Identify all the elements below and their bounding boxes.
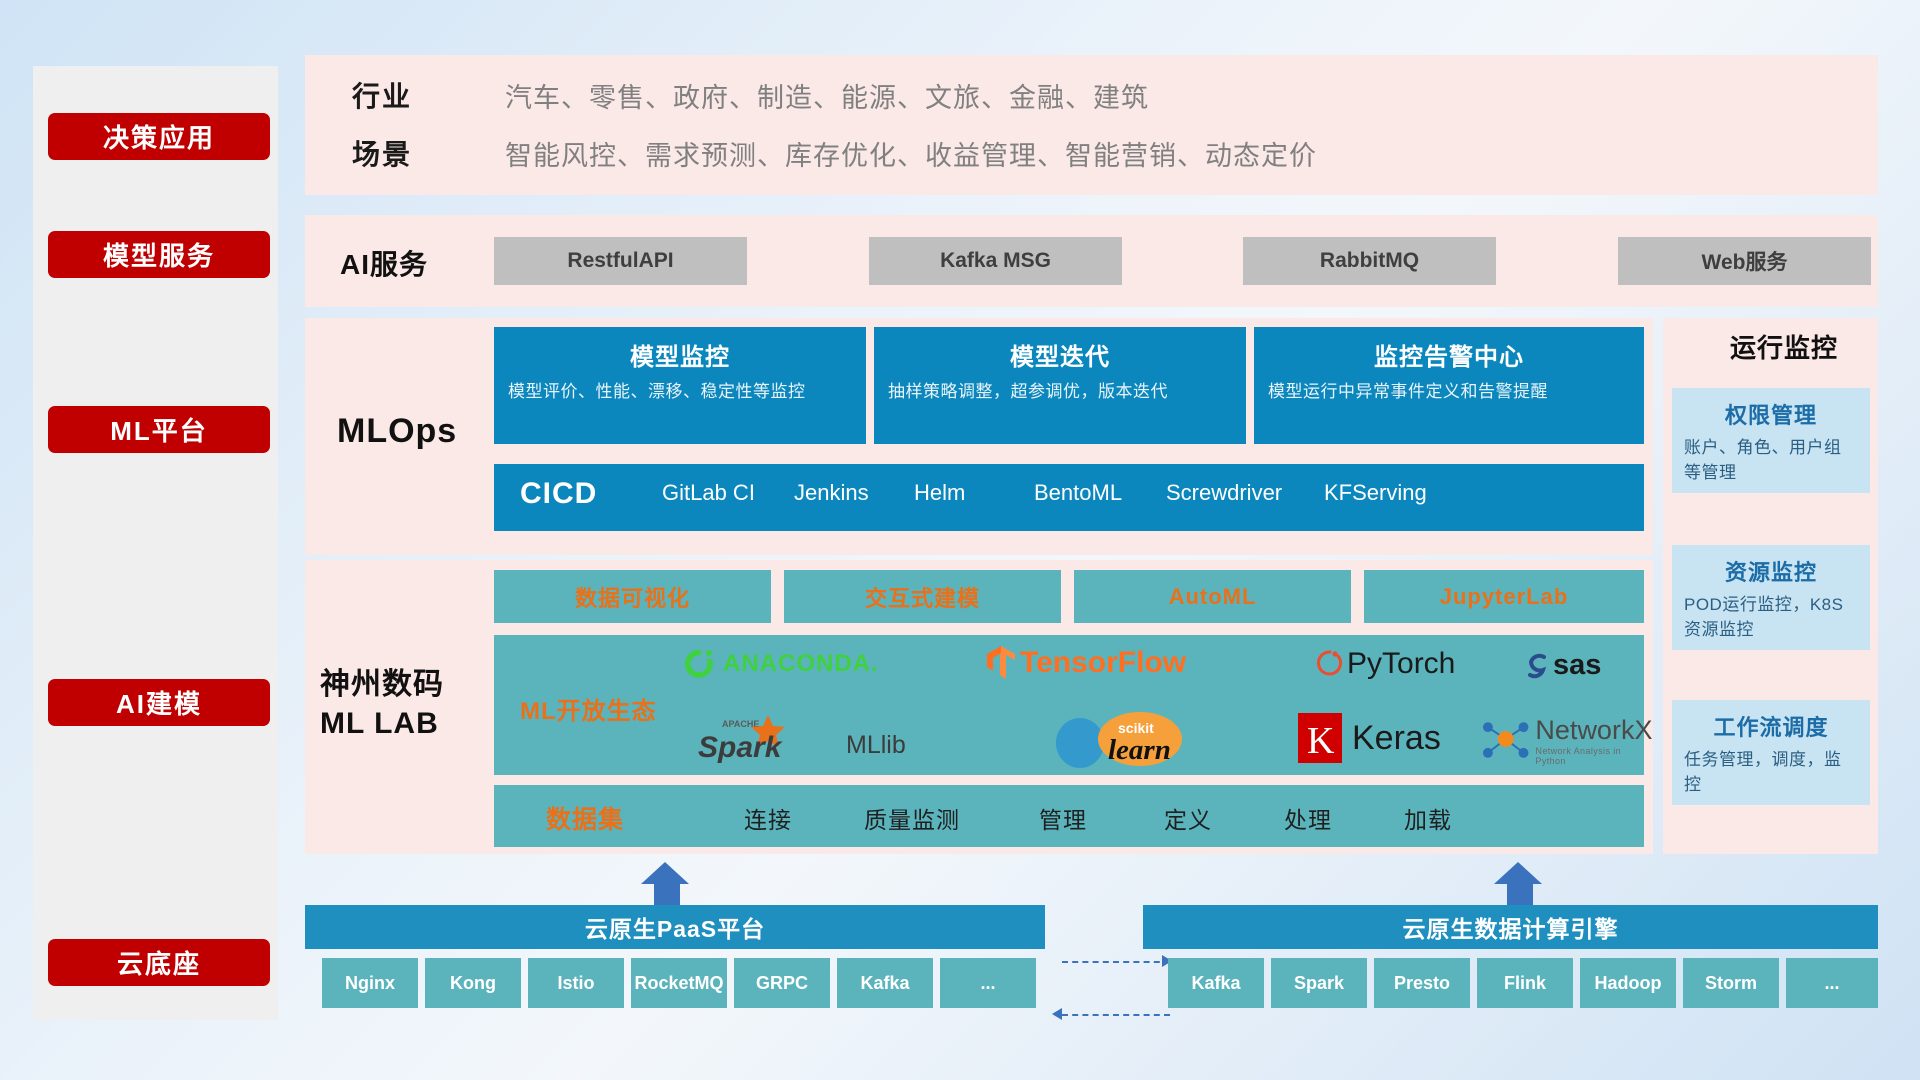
dataset-title: 数据集 bbox=[546, 800, 624, 836]
monitor-card-workflow[interactable]: 工作流调度 任务管理，调度，监控 bbox=[1672, 700, 1870, 805]
ml-lab-label: 神州数码 ML LAB bbox=[320, 665, 485, 743]
cloud-tag-flink[interactable]: Flink bbox=[1477, 958, 1573, 1008]
rail-badge-decision[interactable]: 决策应用 bbox=[48, 113, 270, 160]
ai-service-chip-kafka-msg[interactable]: Kafka MSG bbox=[869, 237, 1122, 285]
dashed-connector-bottom bbox=[1062, 1014, 1170, 1016]
tensorflow-logo: TensorFlow bbox=[986, 645, 1186, 681]
pytorch-logo: PyTorch bbox=[1316, 647, 1455, 681]
ml-lab-label-line2: ML LAB bbox=[320, 704, 485, 743]
networkx-logo: NetworkX Network Analysis in Python bbox=[1480, 715, 1653, 766]
ml-ecosystem-box: ML开放生态 ANACONDA. TensorFlow PyTorch bbox=[494, 635, 1644, 775]
rail-badge-model-service[interactable]: 模型服务 bbox=[48, 231, 270, 278]
cloud-tag-spark[interactable]: Spark bbox=[1271, 958, 1367, 1008]
industry-label: 行业 bbox=[352, 75, 412, 115]
sas-icon bbox=[1522, 651, 1552, 681]
dataset-item-define[interactable]: 定义 bbox=[1164, 801, 1212, 835]
networkx-icon bbox=[1480, 717, 1531, 765]
mlops-card-desc: 抽样策略调整，超参调优，版本迭代 bbox=[888, 380, 1232, 404]
anaconda-logo-text: ANACONDA. bbox=[723, 650, 879, 678]
cloud-tag-grpc[interactable]: GRPC bbox=[734, 958, 830, 1008]
monitor-card-title: 工作流调度 bbox=[1684, 710, 1858, 742]
dataset-item-connect[interactable]: 连接 bbox=[744, 801, 792, 835]
cloud-tag-nginx[interactable]: Nginx bbox=[322, 958, 418, 1008]
ml-ecosystem-label: ML开放生态 bbox=[520, 691, 657, 726]
cicd-item-screwdriver[interactable]: Screwdriver bbox=[1166, 479, 1288, 507]
paas-platform-bar[interactable]: 云原生PaaS平台 bbox=[305, 905, 1045, 949]
scikit-learn-logo: scikit learn bbox=[1052, 711, 1212, 769]
monitor-card-desc: POD运行监控，K8S资源监控 bbox=[1684, 593, 1858, 642]
svg-text:learn: learn bbox=[1108, 734, 1171, 766]
networkx-logo-subtext: Network Analysis in Python bbox=[1535, 746, 1653, 766]
keras-icon: K bbox=[1296, 711, 1344, 765]
cicd-bar: CICD GitLab CI Jenkins Helm BentoML Scre… bbox=[494, 464, 1644, 531]
monitor-card-desc: 账户、角色、用户组等管理 bbox=[1684, 436, 1858, 485]
scenario-value: 智能风控、需求预测、库存优化、收益管理、智能营销、动态定价 bbox=[505, 134, 1317, 173]
ai-service-chip-rabbitmq[interactable]: RabbitMQ bbox=[1243, 237, 1496, 285]
cloud-tag-kafka-right[interactable]: Kafka bbox=[1168, 958, 1264, 1008]
cloud-tag-hadoop[interactable]: Hadoop bbox=[1580, 958, 1676, 1008]
cicd-item-helm[interactable]: Helm bbox=[914, 479, 1036, 507]
ml-lab-label-line1: 神州数码 bbox=[320, 665, 485, 704]
svg-text:Spark: Spark bbox=[698, 731, 783, 764]
pytorch-logo-text: PyTorch bbox=[1347, 647, 1455, 681]
cicd-item-bentoml[interactable]: BentoML bbox=[1034, 479, 1156, 507]
monitor-card-title: 权限管理 bbox=[1684, 398, 1858, 430]
cicd-item-gitlab-ci[interactable]: GitLab CI bbox=[662, 479, 784, 507]
mlops-card-title: 模型监控 bbox=[508, 337, 852, 372]
left-rail bbox=[33, 66, 278, 1020]
monitor-card-resource[interactable]: 资源监控 POD运行监控，K8S资源监控 bbox=[1672, 545, 1870, 650]
industry-value: 汽车、零售、政府、制造、能源、文旅、金融、建筑 bbox=[505, 76, 1149, 115]
dataset-bar: 数据集 连接 质量监测 管理 定义 处理 加载 bbox=[494, 785, 1644, 847]
run-monitor-title: 运行监控 bbox=[1730, 328, 1838, 365]
keras-logo: K Keras bbox=[1296, 711, 1441, 765]
networkx-logo-text: NetworkX bbox=[1535, 715, 1653, 746]
lab-chip-interactive-modeling[interactable]: 交互式建模 bbox=[784, 570, 1061, 623]
ai-service-chip-web[interactable]: Web服务 bbox=[1618, 237, 1871, 285]
lab-chip-jupyterlab[interactable]: JupyterLab bbox=[1364, 570, 1644, 623]
tensorflow-icon bbox=[986, 645, 1016, 681]
cloud-tag-storm[interactable]: Storm bbox=[1683, 958, 1779, 1008]
lab-chip-data-visualization[interactable]: 数据可视化 bbox=[494, 570, 771, 623]
mlops-label: MLOps bbox=[337, 412, 457, 451]
mlops-card-title: 模型迭代 bbox=[888, 337, 1232, 372]
tensorflow-logo-text: TensorFlow bbox=[1020, 646, 1186, 680]
mlops-card-title: 监控告警中心 bbox=[1268, 337, 1630, 372]
sas-logo: sas bbox=[1522, 649, 1601, 682]
dataset-item-process[interactable]: 处理 bbox=[1284, 801, 1332, 835]
cicd-item-kfserving[interactable]: KFServing bbox=[1324, 479, 1446, 507]
mllib-logo-text: MLlib bbox=[846, 731, 906, 760]
mlops-card-alert-center[interactable]: 监控告警中心 模型运行中异常事件定义和告警提醒 bbox=[1254, 327, 1644, 444]
anaconda-icon bbox=[684, 647, 718, 681]
spark-icon: APACHE Spark bbox=[694, 713, 844, 765]
cloud-tag-kafka[interactable]: Kafka bbox=[837, 958, 933, 1008]
mlops-card-desc: 模型运行中异常事件定义和告警提醒 bbox=[1268, 380, 1630, 404]
data-compute-engine-bar[interactable]: 云原生数据计算引擎 bbox=[1143, 905, 1878, 949]
monitor-card-title: 资源监控 bbox=[1684, 555, 1858, 587]
dashed-arrow-left bbox=[1052, 1008, 1062, 1020]
cloud-tag-istio[interactable]: Istio bbox=[528, 958, 624, 1008]
cloud-tag-more-right[interactable]: ... bbox=[1786, 958, 1878, 1008]
rail-badge-ml-platform[interactable]: ML平台 bbox=[48, 406, 270, 453]
cicd-title: CICD bbox=[520, 477, 597, 511]
svg-text:K: K bbox=[1307, 720, 1335, 762]
dataset-item-quality-monitor[interactable]: 质量监测 bbox=[864, 801, 960, 835]
cloud-tag-more-left[interactable]: ... bbox=[940, 958, 1036, 1008]
cloud-tag-rocketmq[interactable]: RocketMQ bbox=[631, 958, 727, 1008]
mlops-card-model-monitoring[interactable]: 模型监控 模型评价、性能、漂移、稳定性等监控 bbox=[494, 327, 866, 444]
rail-badge-ai-modeling[interactable]: AI建模 bbox=[48, 679, 270, 726]
architecture-diagram: 决策应用 模型服务 ML平台 AI建模 云底座 行业 汽车、零售、政府、制造、能… bbox=[0, 0, 1920, 1080]
anaconda-logo: ANACONDA. bbox=[684, 647, 879, 681]
ai-service-label: AI服务 bbox=[340, 243, 428, 283]
scenario-label: 场景 bbox=[352, 133, 412, 173]
cloud-tag-kong[interactable]: Kong bbox=[425, 958, 521, 1008]
spark-mllib-logo: APACHE Spark MLlib bbox=[694, 713, 906, 765]
lab-chip-automl[interactable]: AutoML bbox=[1074, 570, 1351, 623]
monitor-card-permission[interactable]: 权限管理 账户、角色、用户组等管理 bbox=[1672, 388, 1870, 493]
scikit-learn-icon: scikit learn bbox=[1052, 711, 1212, 769]
cicd-item-jenkins[interactable]: Jenkins bbox=[794, 479, 916, 507]
cloud-tag-presto[interactable]: Presto bbox=[1374, 958, 1470, 1008]
mlops-card-model-iteration[interactable]: 模型迭代 抽样策略调整，超参调优，版本迭代 bbox=[874, 327, 1246, 444]
mlops-card-desc: 模型评价、性能、漂移、稳定性等监控 bbox=[508, 380, 852, 404]
dataset-item-manage[interactable]: 管理 bbox=[1039, 801, 1087, 835]
dataset-item-load[interactable]: 加载 bbox=[1404, 801, 1452, 835]
rail-badge-cloud-base[interactable]: 云底座 bbox=[48, 939, 270, 986]
monitor-card-desc: 任务管理，调度，监控 bbox=[1684, 748, 1858, 797]
pytorch-icon bbox=[1316, 648, 1344, 680]
dashed-connector-top bbox=[1062, 961, 1170, 963]
ai-service-chip-restfulapi[interactable]: RestfulAPI bbox=[494, 237, 747, 285]
keras-logo-text: Keras bbox=[1352, 719, 1441, 758]
sas-logo-text: sas bbox=[1553, 649, 1601, 682]
